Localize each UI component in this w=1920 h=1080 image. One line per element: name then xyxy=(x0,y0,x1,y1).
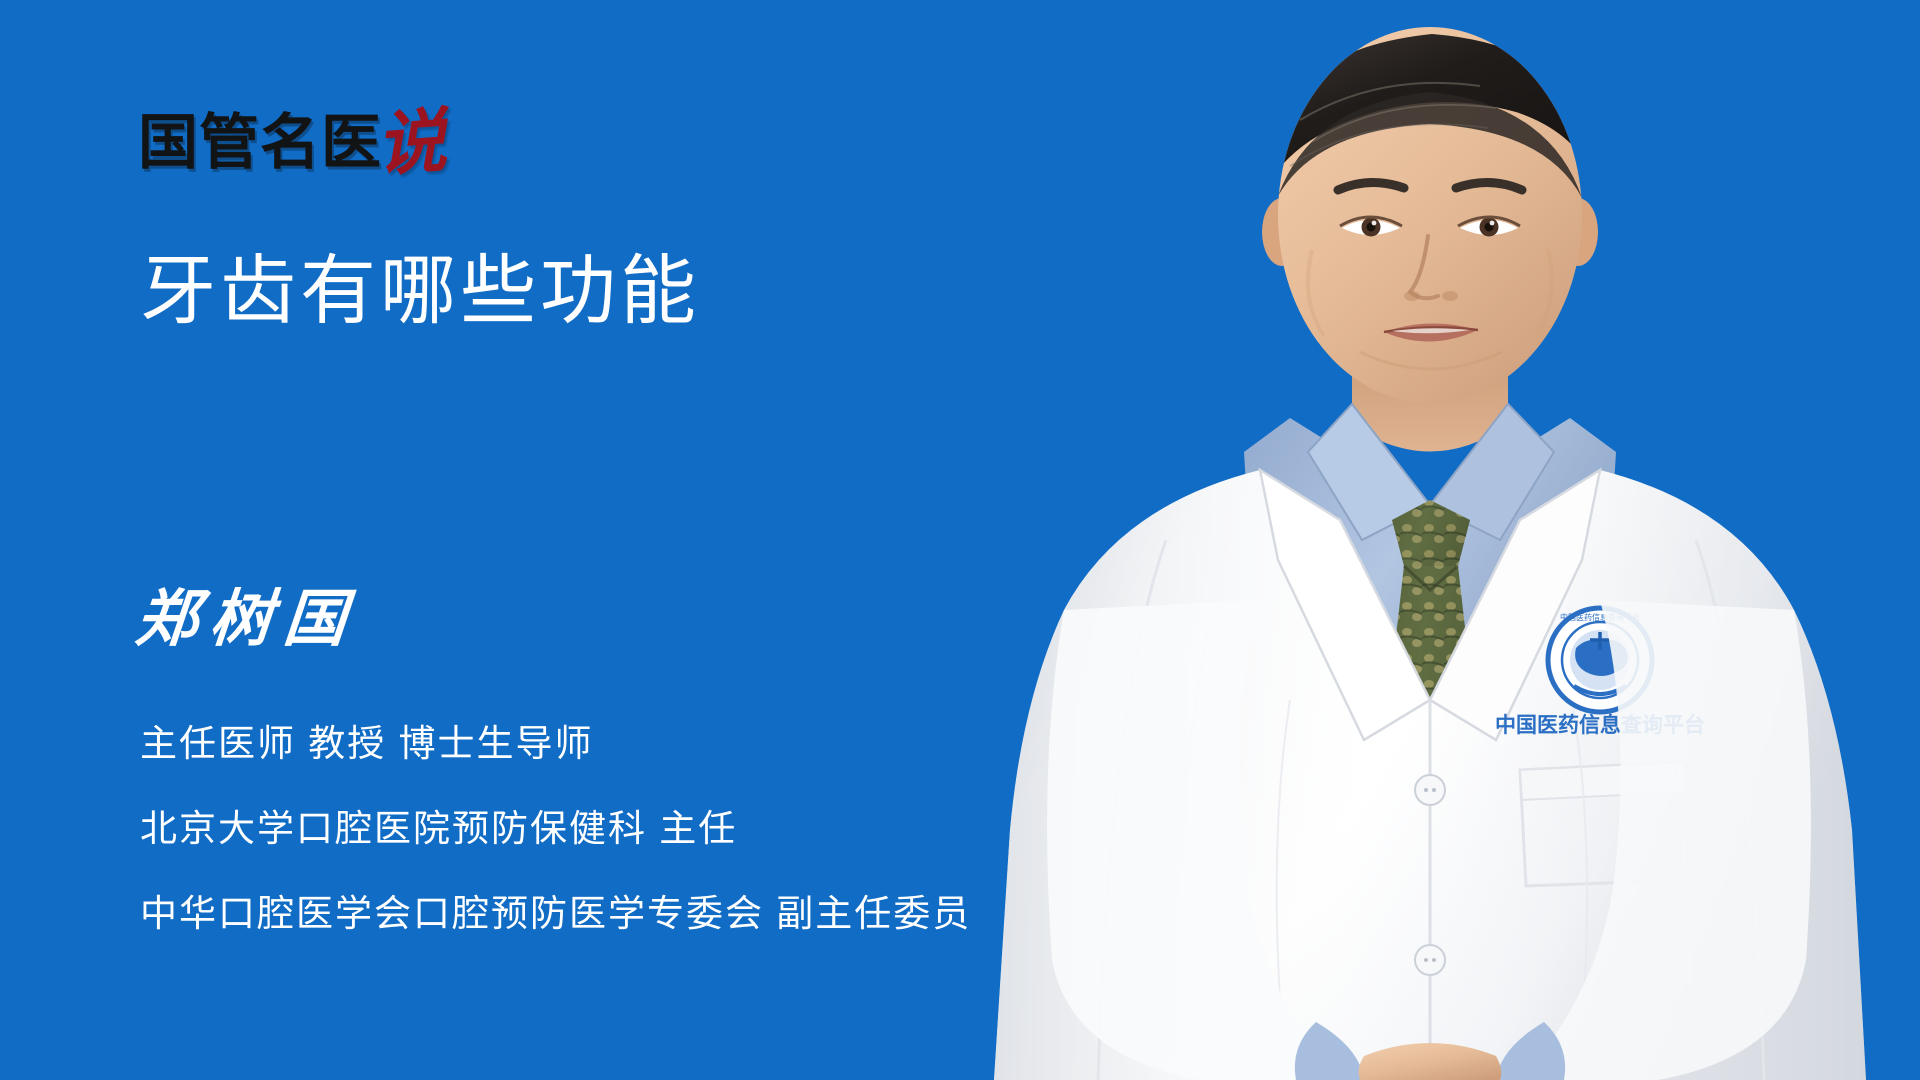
coat-badge-label: 中国医药信息查询平台 xyxy=(1495,713,1705,737)
doctor-name: 郑树国 xyxy=(133,588,360,650)
page-title: 牙齿有哪些功能 xyxy=(140,250,700,334)
credential-line: 中华口腔医学会口腔预防医学专委会 副主任委员 xyxy=(140,895,971,932)
brand-logo-accent-text: 说 xyxy=(374,106,449,181)
doctor-portrait-photo: 中国医药信息查询平台 中国医药信息查询平台 xyxy=(960,0,1920,1080)
svg-text:中国医药信息查询平台: 中国医药信息查询平台 xyxy=(1560,612,1640,622)
video-cover-slide: 国管名医 说 牙齿有哪些功能 郑树国 主任医师 教授 博士生导师 北京大学口腔医… xyxy=(0,0,1920,1080)
brand-logo: 国管名医 说 xyxy=(138,104,446,174)
doctor-credentials: 主任医师 教授 博士生导师 北京大学口腔医院预防保健科 主任 中华口腔医学会口腔… xyxy=(140,725,971,932)
coat-badge-emblem: 中国医药信息查询平台 xyxy=(1548,608,1652,712)
brand-logo-main-text: 国管名医 xyxy=(138,113,382,173)
credential-line: 主任医师 教授 博士生导师 xyxy=(140,725,971,762)
credential-line: 北京大学口腔医院预防保健科 主任 xyxy=(140,810,971,847)
